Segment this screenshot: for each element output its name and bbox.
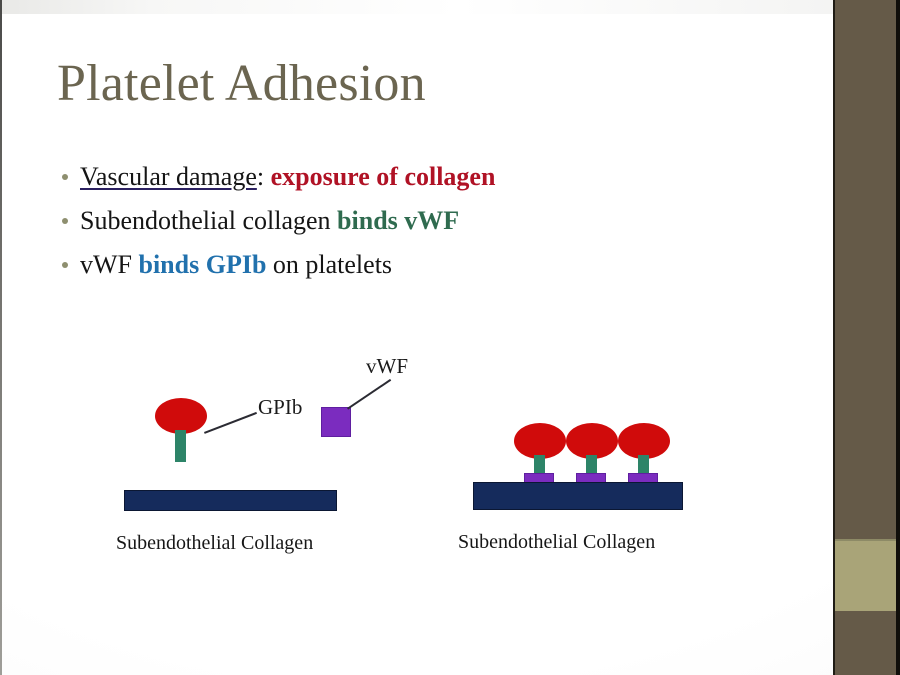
vwf-molecule: [321, 407, 351, 437]
collagen-caption: Subendothelial Collagen: [458, 531, 655, 554]
gpib-receptor-stem: [175, 430, 186, 462]
platelet-body: [566, 423, 618, 459]
collagen-layer: [124, 490, 337, 511]
platelet-body: [155, 398, 207, 434]
collagen-layer: [473, 482, 683, 510]
diagram-unbound-platelet: GPIb vWF Subendothelial Collagen: [0, 0, 440, 570]
gpib-label: GPIb: [258, 395, 302, 420]
slide-root: Platelet Adhesion Vascular damage: expos…: [0, 0, 900, 675]
vwf-leader-line: [347, 379, 391, 410]
gpib-leader-line: [204, 412, 257, 434]
platelet-body: [514, 423, 566, 459]
platelet-body: [618, 423, 670, 459]
collagen-caption: Subendothelial Collagen: [116, 532, 313, 555]
diagram-adhered-platelets: Subendothelial Collagen: [440, 0, 900, 570]
vwf-label: vWF: [366, 354, 408, 379]
